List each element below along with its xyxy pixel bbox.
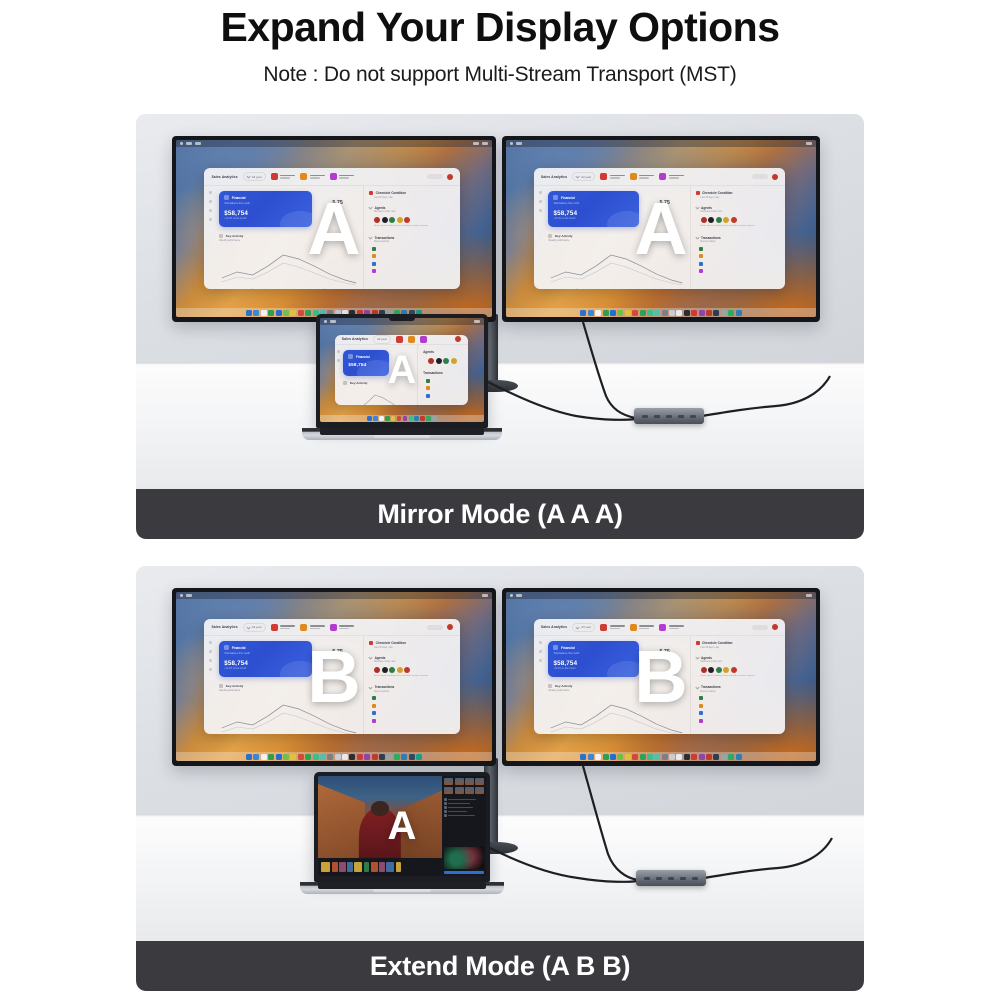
caption-label: Extend Mode (A B B) (370, 951, 630, 982)
cable-laptop (488, 382, 636, 420)
hub-port (654, 415, 660, 418)
cable-monitor-right (583, 322, 636, 418)
cable-group-extend (136, 566, 864, 941)
hub-port (656, 877, 662, 880)
laptop-notch (389, 318, 415, 321)
hub-port (644, 877, 650, 880)
caption-bar-mirror: Mirror Mode (A A A) (136, 489, 864, 539)
caption-label: Mirror Mode (A A A) (377, 499, 622, 530)
cable-monitor-left (778, 838, 832, 868)
caption-bar-extend: Extend Mode (A B B) (136, 941, 864, 991)
panel-mirror-mode: Sales Analytics All year (136, 114, 864, 539)
page-title: Expand Your Display Options (0, 4, 1000, 51)
scene-mirror: Sales Analytics All year (136, 114, 864, 489)
panel-extend-mode: Sales Analytics All year (136, 566, 864, 991)
hub-port (692, 877, 698, 880)
hub-port (680, 877, 686, 880)
cable-monitor-right (583, 766, 638, 880)
cable-hub-out (704, 868, 778, 878)
hub-port (642, 415, 648, 418)
hub-port (690, 415, 696, 418)
usb-c-hub (636, 870, 706, 886)
cable-hub-out (702, 406, 776, 416)
hub-port (678, 415, 684, 418)
hub-port (666, 415, 672, 418)
cable-laptop (490, 848, 638, 882)
hub-port (668, 877, 674, 880)
cable-monitor-left (776, 376, 830, 406)
usb-c-hub (634, 408, 704, 424)
scene-extend: Sales Analytics All year (136, 566, 864, 941)
cable-group-mirror (136, 114, 864, 489)
page-note: Note : Do not support Multi-Stream Trans… (0, 63, 1000, 87)
page-header: Expand Your Display Options Note : Do no… (0, 0, 1000, 87)
